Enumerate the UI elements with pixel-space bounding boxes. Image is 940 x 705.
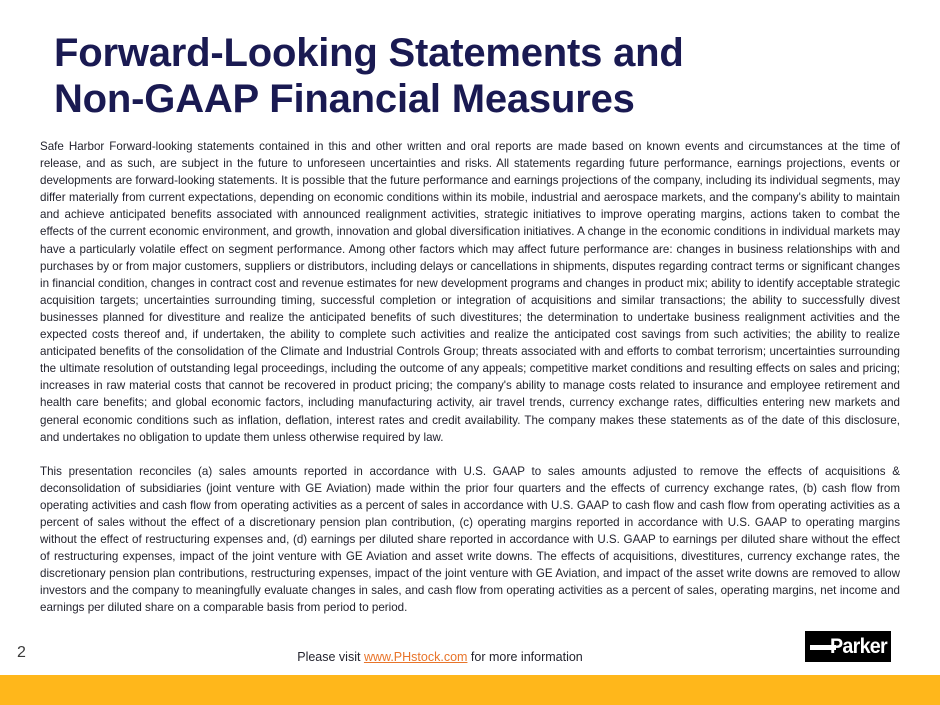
bottom-accent-bar	[0, 675, 940, 705]
body-content: Safe Harbor Forward-looking statements c…	[40, 138, 900, 617]
page-title-line-2: Non-GAAP Financial Measures	[54, 76, 894, 122]
parker-logo: Parker	[805, 631, 891, 662]
footer-note-suffix: for more information	[467, 650, 582, 664]
page-title: Forward-Looking Statements and Non-GAAP …	[54, 30, 894, 122]
safe-harbor-paragraph: Safe Harbor Forward-looking statements c…	[40, 138, 900, 446]
footer-note-prefix: Please visit	[297, 650, 364, 664]
phstock-link[interactable]: www.PHstock.com	[364, 650, 468, 664]
slide: Forward-Looking Statements and Non-GAAP …	[0, 0, 940, 705]
page-title-line-1: Forward-Looking Statements and	[54, 30, 894, 76]
footer-note: Please visit www.PHstock.com for more in…	[0, 649, 880, 665]
non-gaap-reconciliation-paragraph: This presentation reconciles (a) sales a…	[40, 463, 900, 617]
parker-logo-text: Parker	[830, 634, 887, 659]
